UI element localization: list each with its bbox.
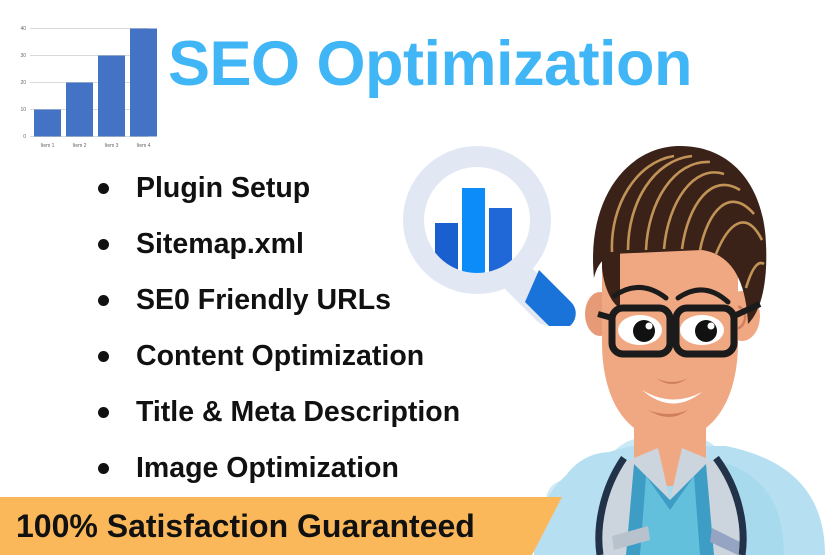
y-tick-30: 30 xyxy=(20,53,26,59)
page-title: SEO Optimization xyxy=(168,33,692,96)
bullet-dot-icon xyxy=(98,407,109,418)
seo-service-poster: 40 30 20 10 0 Item 1 Item 2 Item 3 Item … xyxy=(0,0,825,555)
x-tick-2: Item 2 xyxy=(73,143,87,149)
service-label: SE0 Friendly URLs xyxy=(136,286,391,315)
bullet-dot-icon xyxy=(98,295,109,306)
chart-bar-4 xyxy=(130,29,157,137)
list-item: Sitemap.xml xyxy=(98,216,460,272)
list-item: Image Optimization xyxy=(98,440,460,496)
guarantee-banner-text: 100% Satisfaction Guaranteed xyxy=(16,508,475,545)
list-item: SE0 Friendly URLs xyxy=(98,272,460,328)
list-item: Plugin Setup xyxy=(98,160,460,216)
chart-bar-3 xyxy=(98,56,125,137)
list-item: Content Optimization xyxy=(98,328,460,384)
bullet-dot-icon xyxy=(98,351,109,362)
magnifier-bar-2 xyxy=(462,188,485,275)
bullet-dot-icon xyxy=(98,239,109,250)
x-tick-1: Item 1 xyxy=(41,143,55,149)
service-label: Plugin Setup xyxy=(136,174,310,203)
male-doctor-avatar xyxy=(516,128,825,555)
chart-bar-1 xyxy=(34,110,61,137)
character-pupil-left xyxy=(633,320,655,342)
service-label: Sitemap.xml xyxy=(136,230,304,259)
y-tick-10: 10 xyxy=(20,107,26,113)
character-eye-glint-right xyxy=(708,323,715,330)
y-tick-0: 0 xyxy=(23,134,26,140)
service-label: Title & Meta Description xyxy=(136,398,460,427)
list-item: Title & Meta Description xyxy=(98,384,460,440)
character-eye-glint-left xyxy=(646,323,653,330)
chart-bar-2 xyxy=(66,83,93,137)
character-svg xyxy=(516,128,825,555)
chart-x-axis-ticks: Item 1 Item 2 Item 3 Item 4 xyxy=(41,143,151,149)
bullet-dot-icon xyxy=(98,463,109,474)
bullet-dot-icon xyxy=(98,183,109,194)
x-tick-4: Item 4 xyxy=(137,143,151,149)
character-pupil-right xyxy=(695,320,717,342)
y-tick-40: 40 xyxy=(20,26,26,32)
mini-bar-chart: 40 30 20 10 0 Item 1 Item 2 Item 3 Item … xyxy=(8,8,160,160)
mini-bar-chart-svg: 40 30 20 10 0 Item 1 Item 2 Item 3 Item … xyxy=(8,8,160,160)
service-list: Plugin Setup Sitemap.xml SE0 Friendly UR… xyxy=(98,160,460,496)
service-label: Content Optimization xyxy=(136,342,424,371)
x-tick-3: Item 3 xyxy=(105,143,119,149)
service-label: Image Optimization xyxy=(136,454,399,483)
y-tick-20: 20 xyxy=(20,80,26,86)
chart-y-axis-ticks: 40 30 20 10 0 xyxy=(20,26,26,140)
